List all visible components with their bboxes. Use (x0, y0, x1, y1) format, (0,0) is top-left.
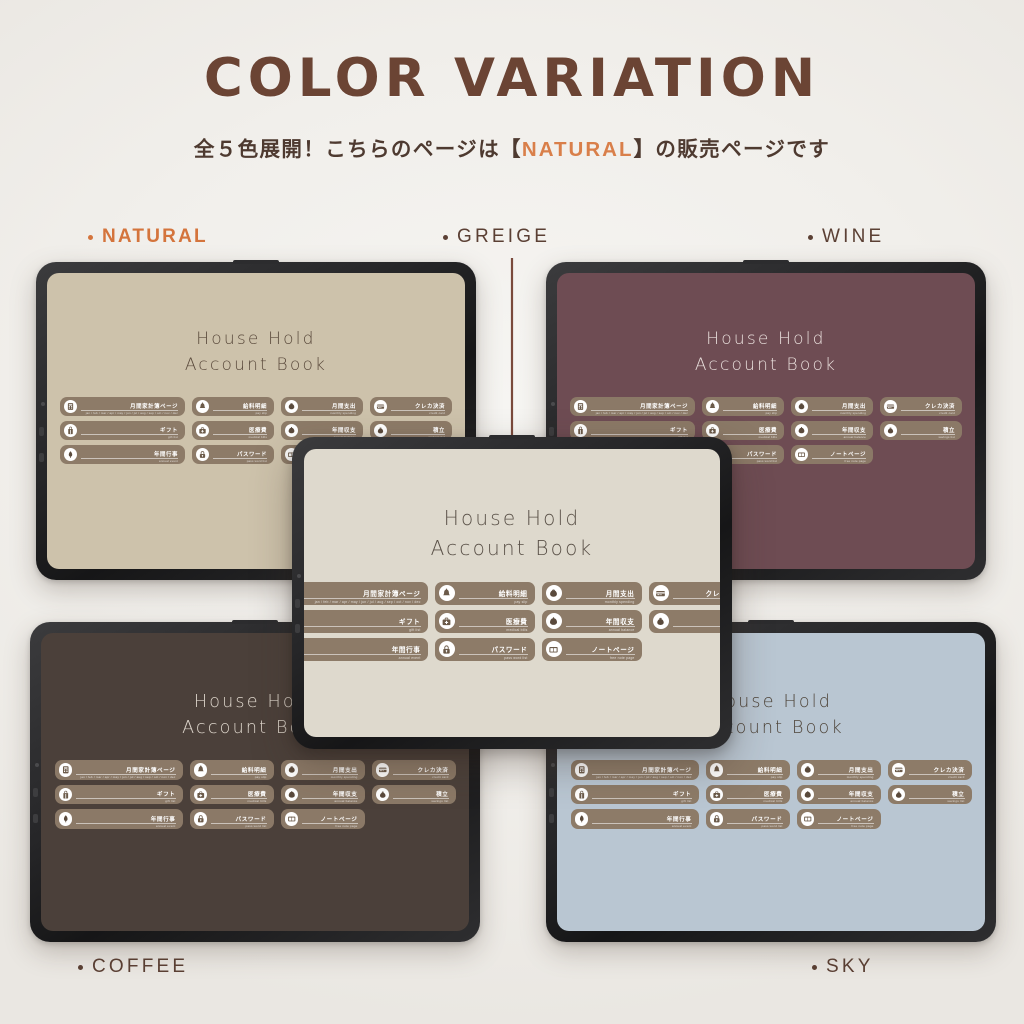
index-button-label-jp: ギフト (399, 616, 421, 626)
calendar-book-icon (59, 763, 73, 777)
tablet-screen-greige: House HoldAccount Book月間家計簿ページjan / feb … (304, 449, 720, 737)
index-button-label-en: gift list (168, 435, 178, 439)
cover-title-line: Account Book (695, 353, 837, 379)
index-button-calendar-book[interactable]: 月間家計簿ページjan / feb / mar / apr / may / ju… (60, 397, 185, 416)
index-button-label-jp: 月間家計簿ページ (363, 588, 420, 598)
index-button-label-jp: クレカ決済 (415, 402, 445, 410)
camera-icon (551, 763, 555, 767)
page-title: COLOR VARIATION (0, 52, 1024, 105)
volume-up-button[interactable] (549, 427, 554, 436)
bell-icon (710, 763, 724, 777)
cover-title: House HoldAccount Book (431, 503, 594, 563)
piggy-bank-icon (546, 613, 562, 629)
gift-bag-icon (59, 788, 73, 802)
coin-purse-icon (285, 763, 299, 777)
index-button-label-jp: パスワード (492, 644, 528, 654)
piggy-bank-icon (285, 788, 299, 802)
index-button-label-en: savings list (947, 799, 964, 803)
index-button-label-jp: ギフト (160, 426, 178, 434)
bell-icon (706, 400, 719, 413)
index-button-notebook[interactable]: ノートページfree note page (791, 445, 873, 464)
bullet-dot-icon (808, 235, 813, 240)
index-button-notebook[interactable]: ノートページfree note page (797, 809, 881, 829)
index-button-label-jp: 積立 (943, 426, 955, 434)
money-bag-icon (376, 788, 390, 802)
index-button-label-jp: 積立 (436, 790, 448, 798)
index-button-label-en: medical bills (249, 435, 267, 439)
credit-card-icon (892, 763, 906, 777)
index-button-coin-purse[interactable]: 月間支出monthly spending (281, 397, 363, 416)
subtitle-post: 】の販売ページです (633, 138, 830, 161)
index-button-label-en: pass word list (757, 459, 777, 463)
cover-title-line: Account Book (431, 533, 594, 563)
coin-purse-icon (795, 400, 808, 413)
bullet-dot-icon (812, 965, 817, 970)
notebook-icon (795, 448, 808, 461)
cover-title-line: Account Book (185, 353, 327, 379)
subtitle-accent: NATURAL (522, 138, 634, 161)
index-button-label-jp: 年間収支 (333, 790, 358, 798)
index-button-money-bag[interactable]: 積立savings list (880, 421, 962, 440)
color-label-wine[interactable]: WINE (808, 226, 884, 248)
index-button-months: jan / feb / mar / apr / may / jun / jul … (80, 775, 175, 779)
index-button-tree[interactable]: 年間行事annual event (55, 809, 183, 829)
money-bag-icon (892, 788, 906, 802)
index-button-label-en: pay slip (514, 600, 527, 604)
index-button-label-en: annual balance (850, 799, 873, 803)
money-bag-icon (884, 424, 897, 437)
tree-icon (575, 812, 589, 826)
index-button-label-en: medical bills (248, 799, 267, 803)
index-button-label-jp: 月間支出 (842, 402, 866, 410)
index-button-calendar-book[interactable]: 月間家計簿ページjan / feb / mar / apr / may / ju… (304, 582, 428, 605)
index-button-grid: 月間家計簿ページjan / feb / mar / apr / may / ju… (304, 582, 720, 661)
index-button-label-jp: 月間支出 (606, 588, 635, 598)
index-button-label-en: medical bills (506, 628, 527, 632)
index-button-label-en: monthly spending (840, 411, 866, 415)
first-aid-kit-icon (439, 613, 455, 629)
color-label-natural[interactable]: NATURAL (88, 226, 208, 248)
index-button-label-jp: 年間行事 (154, 450, 178, 458)
credit-card-icon (884, 400, 897, 413)
color-label-text: GREIGE (457, 226, 550, 248)
gift-bag-icon (575, 788, 589, 802)
index-button-label-en: gift list (681, 799, 691, 803)
index-button-label-en: annual event (156, 824, 176, 828)
lock-icon (710, 812, 724, 826)
index-button-label-en: pay slip (771, 775, 783, 779)
index-button-piggy-bank[interactable]: 年間収支annual balance (281, 785, 365, 805)
index-button-label-jp: 医療費 (759, 426, 777, 434)
index-button-label-jp: 給料明細 (758, 766, 783, 774)
index-button-calendar-book[interactable]: 月間家計簿ページjan / feb / mar / apr / may / ju… (55, 760, 183, 780)
index-button-label-en: free note page (335, 824, 357, 828)
index-button-label-en: pay slip (255, 775, 267, 779)
index-button-label-jp: 医療費 (764, 790, 783, 798)
first-aid-kit-icon (196, 424, 209, 437)
index-button-tree[interactable]: 年間行事annual event (304, 638, 428, 661)
notebook-icon (546, 641, 562, 657)
index-button-lock[interactable]: パスワードpass word list (435, 638, 535, 661)
index-button-bell[interactable]: 給料明細pay slip (192, 397, 274, 416)
index-button-label-jp: クレカ決済 (925, 402, 955, 410)
index-button-label-en: annual balance (334, 799, 357, 803)
index-button-label-en: medical bills (759, 435, 777, 439)
power-button[interactable] (232, 620, 278, 624)
index-button-first-aid-kit[interactable]: 医療費medical bills (192, 421, 274, 440)
index-button-months: jan / feb / mar / apr / may / jun / jul … (596, 775, 691, 779)
index-button-piggy-bank[interactable]: 年間収支annual balance (797, 785, 881, 805)
index-button-label-jp: 月間支出 (332, 402, 356, 410)
index-button-label-jp: 年間行事 (392, 644, 421, 654)
index-button-label-jp: 年間収支 (332, 426, 356, 434)
volume-up-button[interactable] (39, 427, 44, 436)
index-button-label-en: annual balance (609, 628, 635, 632)
cover-title: House HoldAccount Book (695, 327, 837, 378)
index-button-notebook[interactable]: ノートページfree note page (281, 809, 365, 829)
index-button-label-jp: 月間支出 (333, 766, 358, 774)
index-button-label-jp: 月間支出 (849, 766, 874, 774)
color-label-greige[interactable]: GREIGE (443, 226, 550, 248)
index-button-money-bag[interactable]: 積立savings list (649, 610, 721, 633)
volume-down-button[interactable] (33, 814, 38, 823)
index-button-label-en: credit card (939, 411, 955, 415)
index-button-label-en: gift list (409, 628, 420, 632)
money-bag-icon (653, 613, 669, 629)
index-button-label-en: gift list (165, 799, 175, 803)
camera-icon (41, 402, 45, 406)
cover-title-line: House Hold (695, 327, 837, 353)
camera-icon (35, 763, 39, 767)
index-button-label-en: annual balance (844, 435, 866, 439)
subtitle-pre: 全５色展開！こちらのページは【 (194, 138, 522, 161)
index-button-label-en: annual event (399, 656, 421, 660)
power-button[interactable] (233, 260, 279, 264)
index-button-credit-card[interactable]: クレカ決済credit card (372, 760, 456, 780)
index-button-label-jp: ノートページ (830, 450, 866, 458)
index-button-first-aid-kit[interactable]: 医療費medical bills (706, 785, 790, 805)
index-button-label-en: pass word list (504, 656, 527, 660)
lock-icon (196, 448, 209, 461)
piggy-bank-icon (795, 424, 808, 437)
index-button-label-jp: 医療費 (249, 426, 267, 434)
gift-bag-icon (64, 424, 77, 437)
index-button-label-jp: 年間収支 (842, 426, 866, 434)
index-button-label-jp: 年間収支 (849, 790, 874, 798)
index-button-coin-purse[interactable]: 月間支出monthly spending (542, 582, 642, 605)
page-subtitle: 全５色展開！こちらのページは【NATURAL】の販売ページです (0, 132, 1024, 162)
power-button[interactable] (748, 620, 794, 624)
index-button-credit-card[interactable]: クレカ決済credit card (880, 397, 962, 416)
volume-down-button[interactable] (39, 453, 44, 462)
index-button-label-jp: クレカ決済 (418, 766, 449, 774)
calendar-book-icon (575, 763, 589, 777)
index-button-bell[interactable]: 給料明細pay slip (435, 582, 535, 605)
coin-purse-icon (546, 585, 562, 601)
index-button-label-jp: クレカ決済 (934, 766, 965, 774)
camera-icon (297, 574, 301, 578)
color-label-coffee[interactable]: COFFEE (78, 956, 188, 978)
index-button-coin-purse[interactable]: 月間支出monthly spending (281, 760, 365, 780)
index-button-coin-purse[interactable]: 月間支出monthly spending (791, 397, 873, 416)
index-button-bell[interactable]: 給料明細pay slip (702, 397, 784, 416)
power-button[interactable] (489, 435, 535, 439)
index-button-label-jp: パスワード (236, 815, 267, 823)
index-button-label-jp: ギフト (157, 790, 176, 798)
bell-icon (196, 400, 209, 413)
index-button-label-en: free note page (610, 656, 635, 660)
index-button-label-jp: 積立 (433, 426, 445, 434)
index-button-label-jp: 給料明細 (499, 588, 528, 598)
index-button-label-en: medical bills (764, 799, 783, 803)
index-button-credit-card[interactable]: クレカ決済credit card (649, 582, 721, 605)
color-label-sky[interactable]: SKY (812, 956, 874, 978)
coin-purse-icon (285, 400, 298, 413)
index-button-label-jp: 医療費 (506, 616, 528, 626)
lock-icon (194, 812, 208, 826)
index-button-notebook[interactable]: ノートページfree note page (542, 638, 642, 661)
index-button-bell[interactable]: 給料明細pay slip (706, 760, 790, 780)
first-aid-kit-icon (194, 788, 208, 802)
index-button-label-jp: 給料明細 (242, 766, 267, 774)
index-button-label-en: credit card (948, 775, 964, 779)
credit-card-icon (653, 585, 669, 601)
first-aid-kit-icon (706, 424, 719, 437)
index-button-label-en: savings list (938, 435, 955, 439)
color-label-text: NATURAL (102, 226, 208, 248)
volume-up-button[interactable] (549, 788, 554, 797)
index-button-label-jp: パスワード (237, 450, 267, 458)
color-label-text: COFFEE (92, 956, 188, 978)
index-button-label-en: annual event (159, 459, 178, 463)
index-button-calendar-book[interactable]: 月間家計簿ページjan / feb / mar / apr / may / ju… (570, 397, 695, 416)
index-button-label-en: pay slip (256, 411, 267, 415)
power-button[interactable] (743, 260, 789, 264)
volume-up-button[interactable] (295, 599, 300, 608)
index-button-piggy-bank[interactable]: 年間収支annual balance (542, 610, 642, 633)
index-button-credit-card[interactable]: クレカ決済credit card (370, 397, 452, 416)
camera-icon (551, 402, 555, 406)
index-button-label-en: free note page (851, 824, 873, 828)
index-button-label-jp: 月間家計簿ページ (126, 766, 175, 774)
index-button-label-jp: ノートページ (320, 815, 357, 823)
index-button-label-jp: ギフト (670, 426, 688, 434)
first-aid-kit-icon (710, 788, 724, 802)
index-button-tree[interactable]: 年間行事annual event (60, 445, 185, 464)
index-button-months: jan / feb / mar / apr / may / jun / jul … (315, 600, 421, 604)
notebook-icon (801, 812, 815, 826)
index-button-label-jp: 医療費 (248, 790, 267, 798)
index-button-label-en: pay slip (766, 411, 777, 415)
index-button-label-en: monthly spending (330, 411, 356, 415)
index-button-label-en: savings list (431, 799, 448, 803)
bullet-dot-icon (88, 235, 93, 240)
notebook-icon (285, 812, 299, 826)
index-button-label-jp: パスワード (747, 450, 777, 458)
volume-down-button[interactable] (295, 624, 300, 633)
index-button-lock[interactable]: パスワードpass word list (706, 809, 790, 829)
index-button-label-en: pass word list (247, 459, 267, 463)
index-button-label-jp: パスワード (752, 815, 783, 823)
index-button-months: jan / feb / mar / apr / may / jun / jul … (86, 411, 178, 415)
money-bag-icon (374, 424, 387, 437)
cover-title-line: House Hold (431, 503, 594, 533)
index-button-label-en: monthly spending (847, 775, 874, 779)
index-button-label-jp: 月間家計簿ページ (130, 402, 178, 410)
index-button-label-jp: 積立 (952, 790, 964, 798)
bell-icon (194, 763, 208, 777)
index-button-grid: 月間家計簿ページjan / feb / mar / apr / may / ju… (55, 760, 456, 829)
index-button-label-jp: 月間家計簿ページ (642, 766, 691, 774)
index-button-grid: 月間家計簿ページjan / feb / mar / apr / may / ju… (571, 760, 972, 829)
bell-icon (439, 585, 455, 601)
bullet-dot-icon (78, 965, 83, 970)
index-button-label-jp: 給料明細 (243, 402, 267, 410)
index-button-months: jan / feb / mar / apr / may / jun / jul … (596, 411, 688, 415)
index-button-label-jp: 給料明細 (753, 402, 777, 410)
tree-icon (59, 812, 73, 826)
index-button-label-jp: 月間家計簿ページ (640, 402, 688, 410)
index-button-label-en: annual event (672, 824, 692, 828)
index-button-first-aid-kit[interactable]: 医療費medical bills (190, 785, 274, 805)
gift-bag-icon (574, 424, 587, 437)
index-button-label-jp: 年間行事 (667, 815, 692, 823)
tablet-greige[interactable]: House HoldAccount Book月間家計簿ページjan / feb … (292, 437, 732, 749)
cover-title: House HoldAccount Book (185, 327, 327, 378)
index-button-bell[interactable]: 給料明細pay slip (190, 760, 274, 780)
index-button-label-en: credit card (432, 775, 448, 779)
color-label-text: SKY (826, 956, 874, 978)
color-label-text: WINE (822, 226, 884, 248)
index-button-label-en: monthly spending (605, 600, 635, 604)
index-button-label-en: free note page (845, 459, 866, 463)
index-button-label-en: monthly spending (331, 775, 358, 779)
index-button-gift-bag[interactable]: ギフトgift list (60, 421, 185, 440)
lock-icon (439, 641, 455, 657)
bullet-dot-icon (443, 235, 448, 240)
piggy-bank-icon (285, 424, 298, 437)
index-button-gift-bag[interactable]: ギフトgift list (55, 785, 183, 805)
header: COLOR VARIATION 全５色展開！こちらのページは【NATURAL】の… (0, 0, 1024, 162)
index-button-lock[interactable]: パスワードpass word list (192, 445, 274, 464)
index-button-credit-card[interactable]: クレカ決済credit card (888, 760, 972, 780)
index-button-label-jp: 年間収支 (606, 616, 635, 626)
credit-card-icon (376, 763, 390, 777)
index-button-label-jp: ギフト (673, 790, 692, 798)
cover-title-line: House Hold (185, 327, 327, 353)
index-button-label-en: credit card (429, 411, 445, 415)
index-button-label-jp: ノートページ (836, 815, 873, 823)
credit-card-icon (374, 400, 387, 413)
index-button-label-en: pass word list (762, 824, 783, 828)
index-button-tree[interactable]: 年間行事annual event (571, 809, 699, 829)
index-button-label-en: pass word list (246, 824, 267, 828)
calendar-book-icon (574, 400, 587, 413)
index-button-money-bag[interactable]: 積立savings list (372, 785, 456, 805)
calendar-book-icon (64, 400, 77, 413)
index-button-label-jp: ノートページ (591, 644, 634, 654)
coin-purse-icon (801, 763, 815, 777)
index-button-gift-bag[interactable]: ギフトgift list (571, 785, 699, 805)
index-button-money-bag[interactable]: 積立savings list (888, 785, 972, 805)
index-button-calendar-book[interactable]: 月間家計簿ページjan / feb / mar / apr / may / ju… (571, 760, 699, 780)
index-button-label-jp: クレカ決済 (706, 588, 720, 598)
volume-down-button[interactable] (549, 814, 554, 823)
tree-icon (64, 448, 77, 461)
index-button-lock[interactable]: パスワードpass word list (190, 809, 274, 829)
index-button-gift-bag[interactable]: ギフトgift list (304, 610, 428, 633)
volume-up-button[interactable] (33, 788, 38, 797)
index-button-label-jp: 年間行事 (151, 815, 176, 823)
index-button-piggy-bank[interactable]: 年間収支annual balance (791, 421, 873, 440)
index-button-coin-purse[interactable]: 月間支出monthly spending (797, 760, 881, 780)
index-button-first-aid-kit[interactable]: 医療費medical bills (435, 610, 535, 633)
piggy-bank-icon (801, 788, 815, 802)
